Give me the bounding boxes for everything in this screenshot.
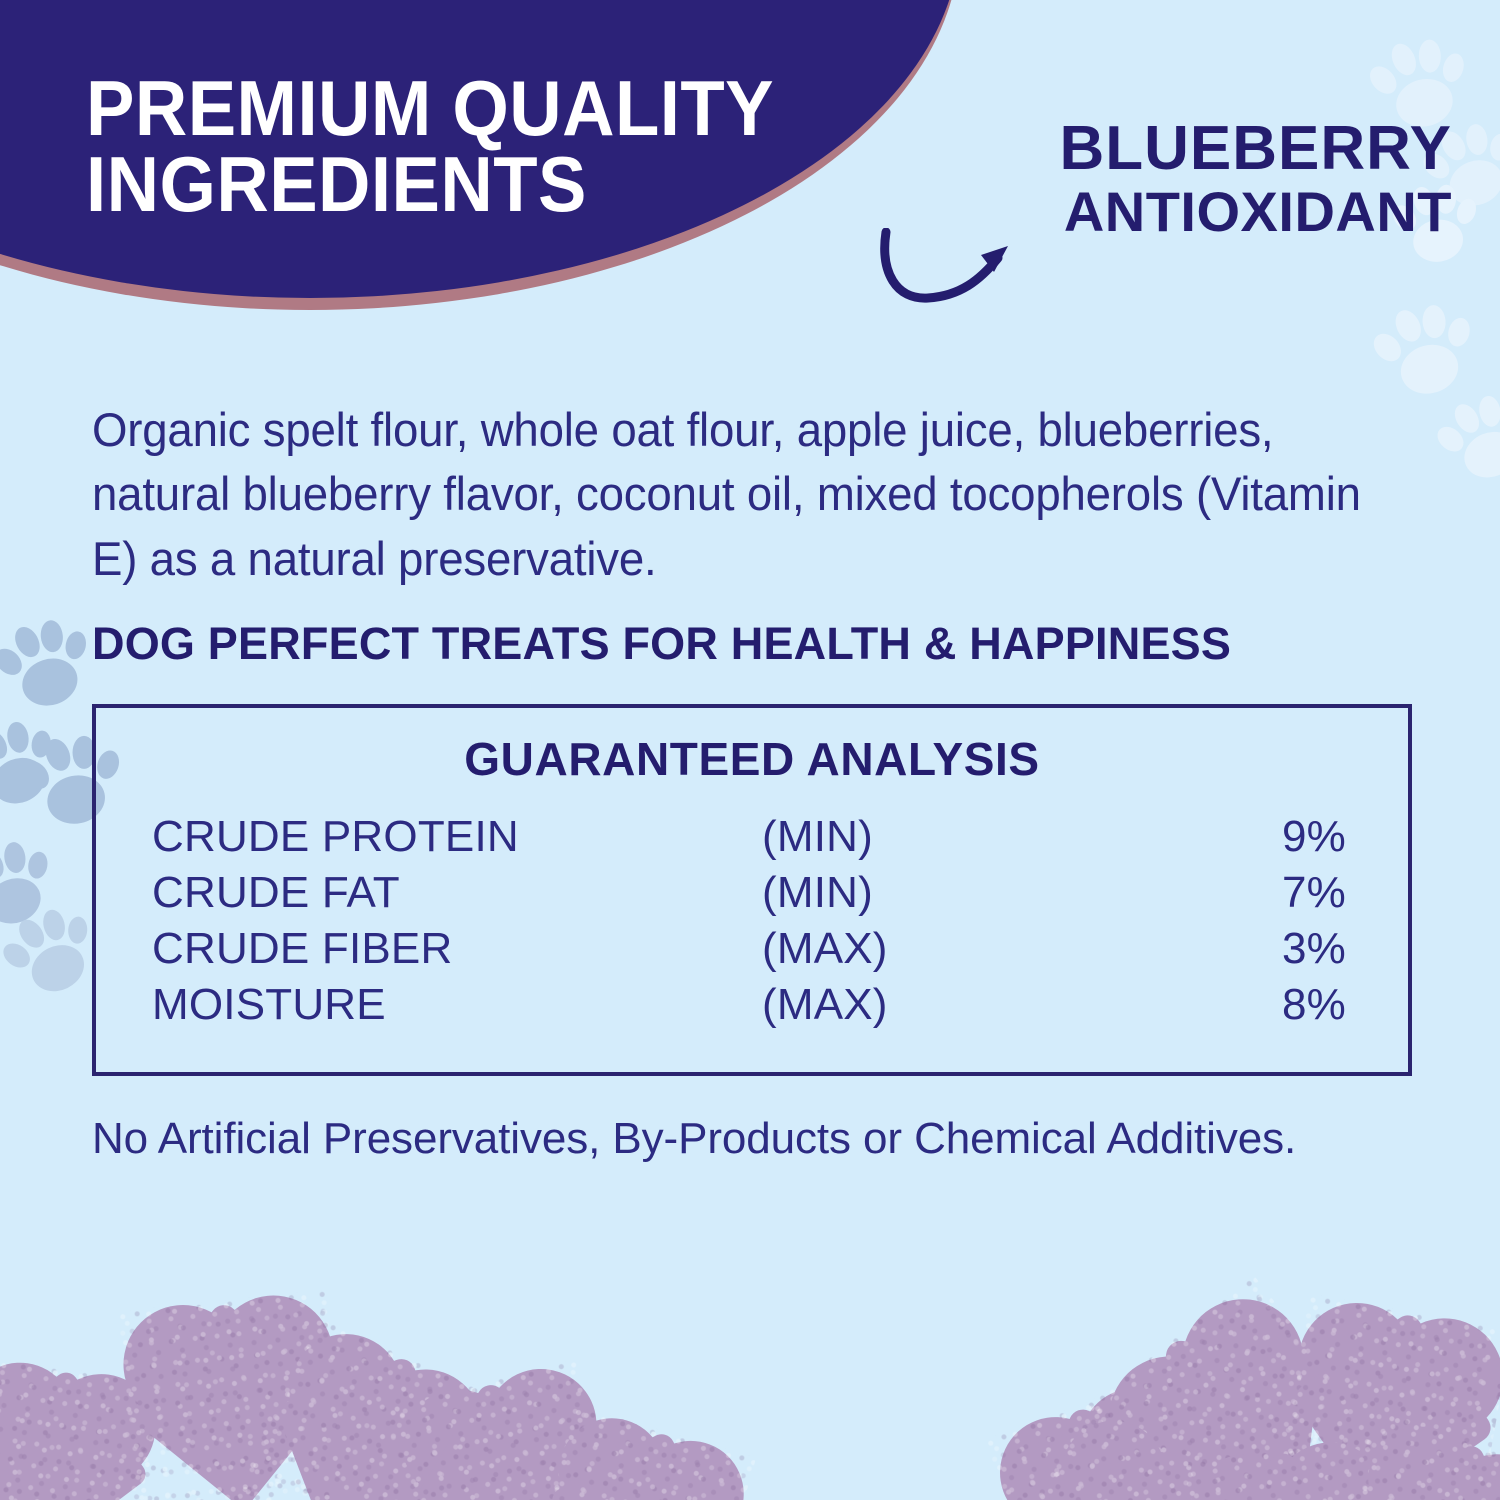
page-title-line-1: PREMIUM QUALITY	[86, 70, 821, 146]
nutrient-value: 3%	[1092, 924, 1352, 974]
blueberry-antioxidant-callout: BLUEBERRY ANTIOXIDANT	[832, 118, 1452, 240]
paw-print-icon	[0, 704, 72, 824]
tagline: DOG PERFECT TREATS FOR HEALTH & HAPPINES…	[92, 618, 1231, 670]
nutrient-basis: (MIN)	[762, 812, 1092, 862]
table-row: CRUDE FAT (MIN) 7%	[152, 868, 1352, 924]
nutrient-name: MOISTURE	[152, 980, 762, 1030]
no-additives-note: No Artificial Preservatives, By-Products…	[92, 1114, 1296, 1164]
page-title: PREMIUM QUALITY INGREDIENTS	[86, 70, 821, 223]
heart-treat-icon	[524, 1406, 757, 1500]
nutrient-value: 7%	[1092, 868, 1352, 918]
nutrient-name: CRUDE FIBER	[152, 924, 762, 974]
paw-print-icon	[1362, 288, 1486, 412]
guaranteed-analysis-table: GUARANTEED ANALYSIS CRUDE PROTEIN (MIN) …	[92, 704, 1412, 1076]
paw-print-icon	[1424, 378, 1500, 498]
heart-treat-icon	[1326, 1412, 1500, 1500]
guaranteed-analysis-rows: CRUDE PROTEIN (MIN) 9% CRUDE FAT (MIN) 7…	[96, 812, 1408, 1036]
heart-treat-icon	[0, 1356, 162, 1500]
nutrient-name: CRUDE PROTEIN	[152, 812, 762, 862]
heart-treat-icon	[391, 1357, 629, 1500]
heart-treat-icon	[118, 1290, 349, 1500]
callout-line-1: BLUEBERRY	[832, 118, 1452, 180]
paw-print-icon	[0, 825, 67, 943]
table-row: MOISTURE (MAX) 8%	[152, 980, 1352, 1036]
heart-treat-icon	[984, 1372, 1235, 1500]
nutrient-basis: (MAX)	[762, 924, 1092, 974]
heart-treat-icon	[236, 1316, 500, 1500]
table-row: CRUDE FIBER (MAX) 3%	[152, 924, 1352, 980]
heart-treat-icon	[999, 1401, 1253, 1500]
heart-treat-icon	[1085, 1275, 1385, 1500]
nutrient-name: CRUDE FAT	[152, 868, 762, 918]
treat-photo-strip	[0, 1200, 1500, 1500]
nutrient-value: 9%	[1092, 812, 1352, 862]
paw-print-icon	[0, 604, 104, 725]
nutrient-value: 8%	[1092, 980, 1352, 1030]
page-title-line-2: INGREDIENTS	[86, 146, 821, 222]
heart-treat-icon	[1274, 1294, 1500, 1500]
nutrient-basis: (MAX)	[762, 980, 1092, 1030]
product-label-panel: PREMIUM QUALITY INGREDIENTS BLUEBERRY AN…	[0, 0, 1500, 1500]
table-row: CRUDE PROTEIN (MIN) 9%	[152, 812, 1352, 868]
curved-arrow-up-right-icon	[876, 228, 1026, 318]
guaranteed-analysis-title: GUARANTEED ANALYSIS	[96, 732, 1408, 786]
nutrient-basis: (MIN)	[762, 868, 1092, 918]
heart-treat-icon	[1183, 1435, 1404, 1500]
ingredients-paragraph: Organic spelt flour, whole oat flour, ap…	[92, 398, 1382, 591]
